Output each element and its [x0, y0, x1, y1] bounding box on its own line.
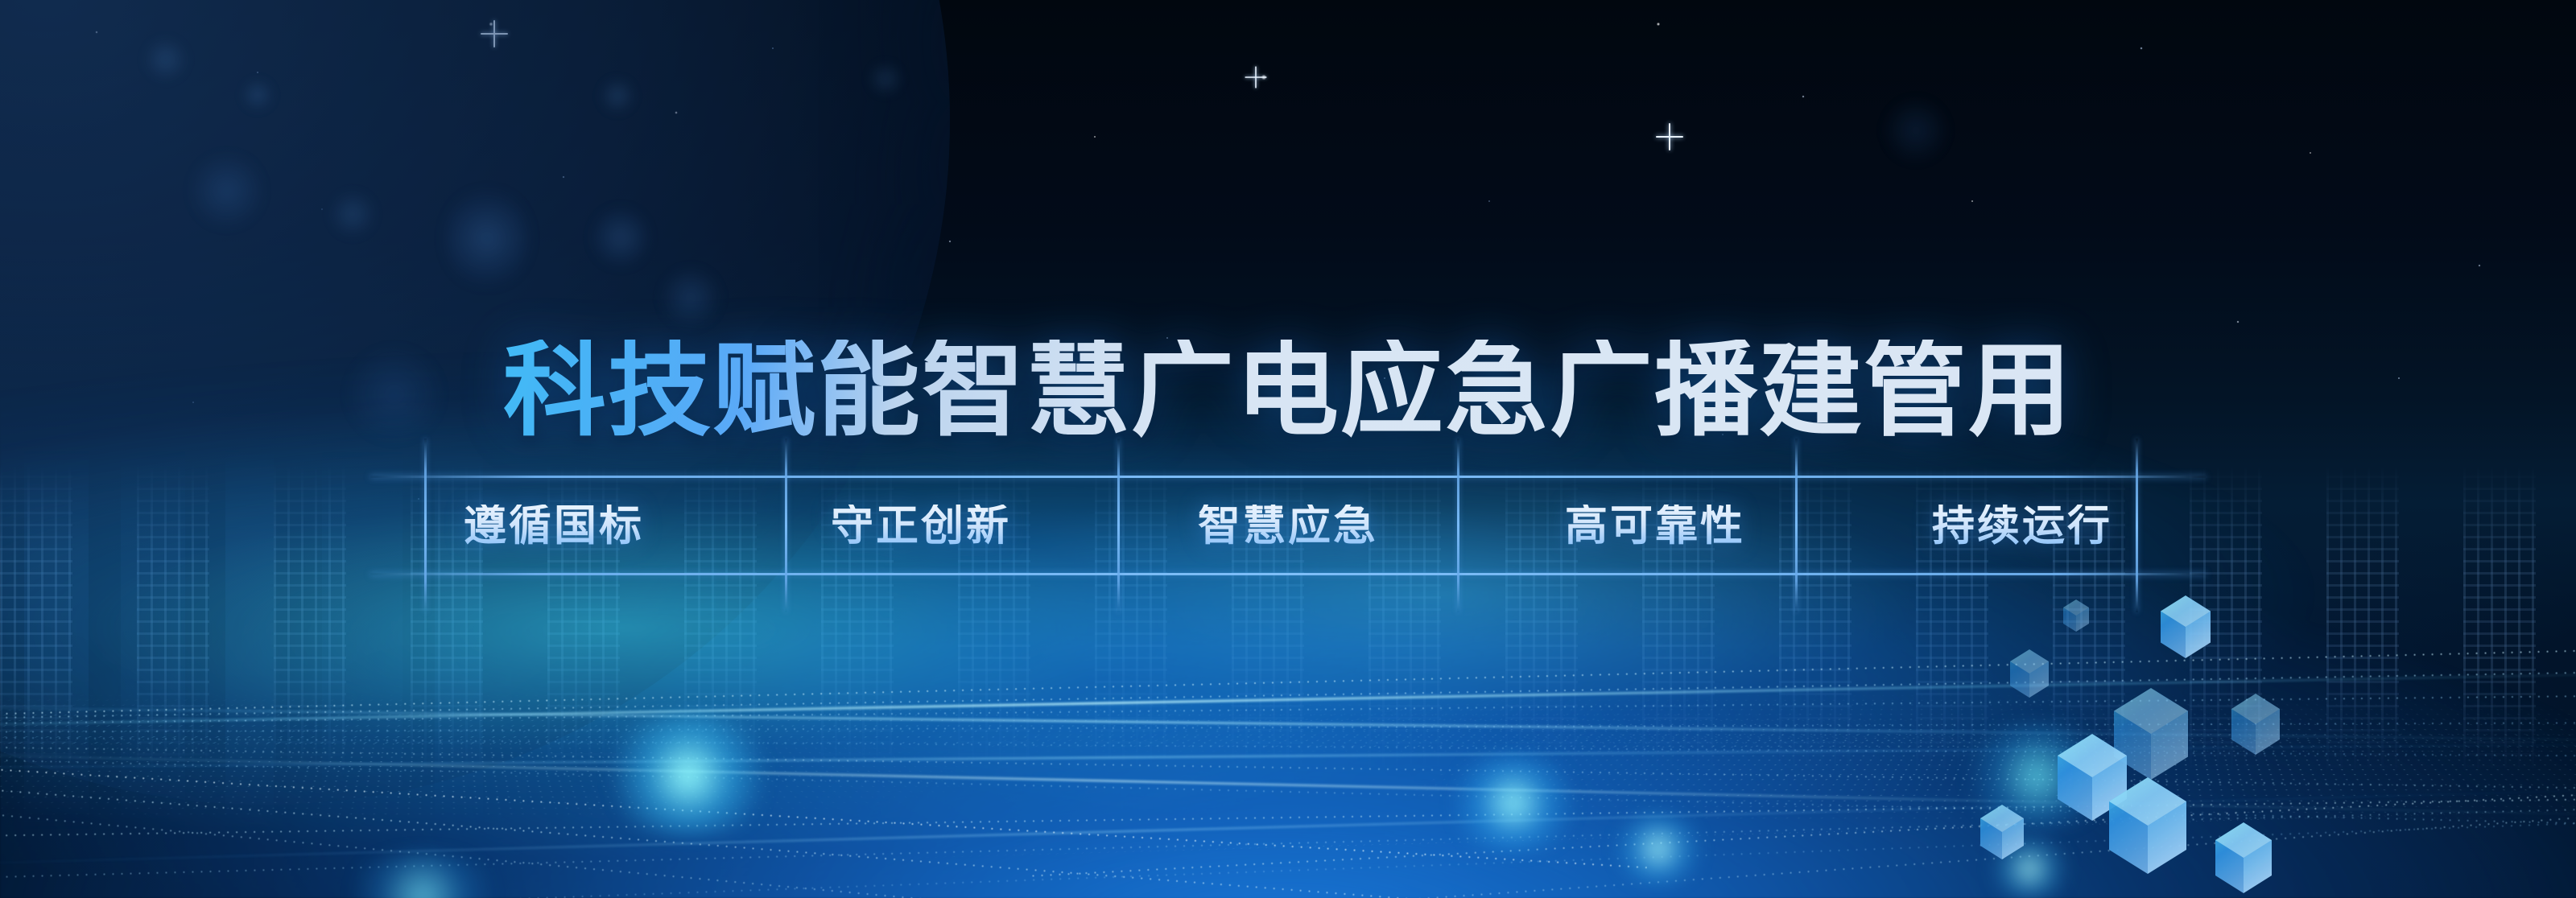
feature-item-2: 智慧应急	[1104, 505, 1472, 547]
feature-bar: 遵循国标 守正创新 智慧应急 高可靠性 持续运行	[370, 476, 2206, 575]
feature-item-4: 持续运行	[1839, 505, 2206, 547]
feature-item-0: 遵循国标	[370, 505, 737, 547]
feature-item-1: 守正创新	[737, 505, 1104, 547]
promo-banner: 科技赋能智慧广电应急广播建管用 遵循国标 守正创新 智慧应急 高可靠性 持续运行	[0, 0, 2576, 898]
feature-list: 遵循国标 守正创新 智慧应急 高可靠性 持续运行	[370, 476, 2206, 575]
banner-title: 科技赋能智慧广电应急广播建管用	[0, 340, 2576, 443]
feature-item-3: 高可靠性	[1472, 505, 1839, 547]
